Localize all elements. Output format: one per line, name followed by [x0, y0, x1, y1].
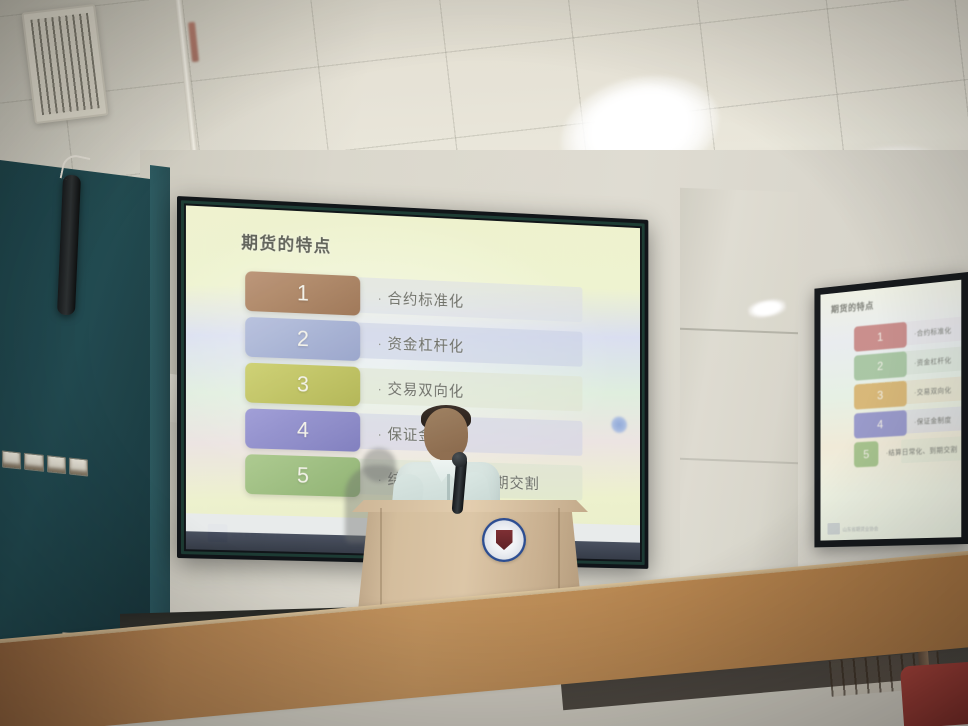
- bullet-glyph: ·: [378, 290, 383, 305]
- bullet-glyph: ·: [378, 426, 383, 441]
- left-wall-panel: [0, 160, 160, 680]
- row-label: 资金杠杆化: [388, 335, 465, 355]
- row2-label: 交易双向化: [917, 387, 952, 396]
- crest-shield: [496, 530, 513, 550]
- speaker-placket: [447, 474, 450, 504]
- row-text: ·资金杠杆化: [378, 332, 464, 356]
- row2-number-chip: 5: [854, 441, 879, 467]
- slide2-row: 4 ·保证金制度: [854, 406, 957, 440]
- slide2-row: 5 ·结算日常化、到期交割: [854, 436, 957, 469]
- row2-label: 资金杠杆化: [917, 357, 952, 367]
- row2-label: 保证金制度: [917, 417, 952, 426]
- light-switch[interactable]: [46, 455, 66, 474]
- slide2-title: 期货的特点: [831, 299, 874, 316]
- ceiling-air-vent: [21, 4, 108, 124]
- row-number-chip: 4: [245, 408, 360, 451]
- slide2-logo-text: 山东省期货业协会: [842, 526, 878, 534]
- vent-slats: [30, 13, 99, 115]
- row2-number-chip: 4: [854, 410, 907, 439]
- row-number-chip: 5: [245, 454, 360, 497]
- slide2-row-list: 1 ·合约标准化 2 ·资金杠杆化 3 ·交易双向化: [854, 316, 957, 470]
- slide-title: 期货的特点: [241, 228, 331, 257]
- row2-number-chip: 2: [854, 351, 907, 381]
- red-chair: [900, 661, 968, 726]
- row-number-chip: 1: [245, 271, 360, 316]
- slide2-footer-logo: [828, 523, 840, 535]
- left-wall-edge: [150, 165, 170, 637]
- row-number-chip: 3: [245, 363, 360, 407]
- secondary-projection-screen[interactable]: 期货的特点 1 ·合约标准化 2 ·资金杠杆化: [814, 272, 968, 547]
- row2-number-chip: 1: [854, 322, 907, 352]
- lectern-top: [352, 500, 588, 512]
- slide-blue-marker: [611, 416, 627, 433]
- row-text: ·交易双向化: [378, 377, 464, 401]
- slide2-canvas: 期货的特点 1 ·合约标准化 2 ·资金杠杆化: [821, 280, 962, 541]
- row-number-chip: 2: [245, 317, 360, 361]
- university-crest-icon: [482, 518, 526, 562]
- light-switch[interactable]: [2, 450, 22, 469]
- row2-number-chip: 3: [854, 381, 907, 410]
- row-text: ·合约标准化: [378, 286, 464, 310]
- bullet-glyph: ·: [378, 336, 383, 351]
- lecture-hall-photo: 期货的特点 1 ·合约标准化 2 ·资金杠杆化: [0, 0, 968, 726]
- row-label: 交易双向化: [388, 380, 465, 399]
- bullet-glyph: ·: [378, 381, 383, 396]
- wall-column: [680, 188, 798, 623]
- light-switch[interactable]: [69, 457, 89, 476]
- light-switch[interactable]: [24, 453, 44, 472]
- row-label: 合约标准化: [388, 290, 465, 310]
- slide2-row: 3 ·交易双向化: [854, 376, 957, 411]
